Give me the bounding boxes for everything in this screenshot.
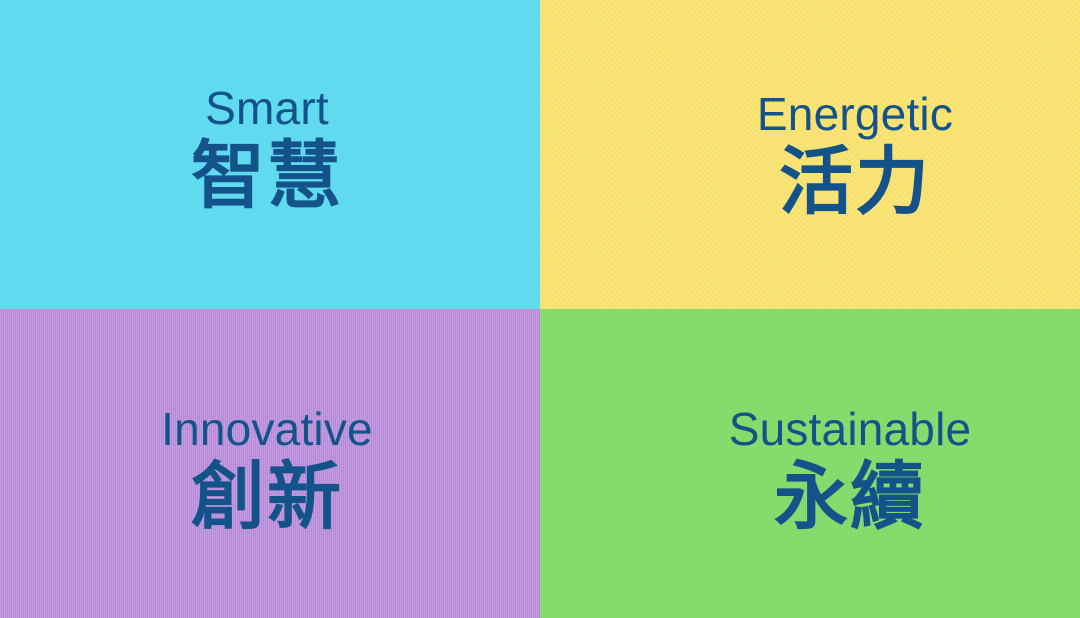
quadrant-text-block-sustainable: Sustainable 永續 (729, 406, 972, 534)
quadrant-label-en-energetic: Energetic (757, 91, 953, 137)
quadrant-label-en-innovative: Innovative (161, 406, 373, 452)
quadrant-label-en-sustainable: Sustainable (729, 406, 972, 452)
quadrant-text-block-energetic: Energetic 活力 (757, 91, 953, 219)
quadrant-label-zh-innovative: 創新 (191, 460, 343, 534)
quadrant-text-block-innovative: Innovative 創新 (161, 406, 373, 534)
quadrant-energetic[interactable]: Energetic 活力 (540, 0, 1080, 309)
brand-quadrant-board: Smart 智慧 Energetic 活力 Innovative 創新 Sust… (0, 0, 1080, 618)
quadrant-text-block-smart: Smart 智慧 (191, 85, 343, 213)
quadrant-sustainable[interactable]: Sustainable 永續 (540, 309, 1080, 618)
quadrant-label-zh-energetic: 活力 (779, 145, 931, 219)
quadrant-smart[interactable]: Smart 智慧 (0, 0, 540, 309)
quadrant-innovative[interactable]: Innovative 創新 (0, 309, 540, 618)
quadrant-label-en-smart: Smart (205, 85, 329, 131)
quadrant-label-zh-sustainable: 永續 (774, 460, 926, 534)
quadrant-label-zh-smart: 智慧 (191, 139, 343, 213)
